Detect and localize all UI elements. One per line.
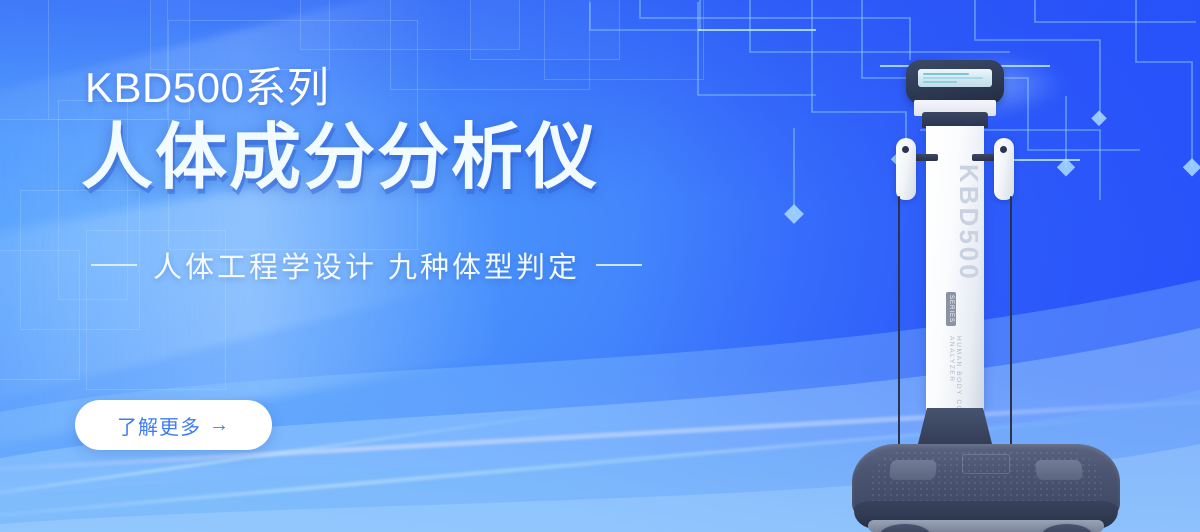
device-cable-left — [898, 196, 900, 446]
device-cable-right — [1010, 196, 1012, 446]
device-column: KBD500 SERIES HUMAN BODY COMPOSITION ANA… — [926, 126, 984, 410]
dash-left-icon — [91, 264, 137, 266]
product-series-label: KBD500系列 — [85, 66, 725, 111]
page-title: 人体成分分析仪 — [81, 121, 725, 197]
learn-more-button[interactable]: 了解更多 → — [75, 400, 272, 450]
device-handle-right — [994, 138, 1014, 200]
banner-subtitle-row: 人体工程学设计 九种体型判定 — [91, 244, 725, 286]
device-handle-left — [896, 138, 916, 200]
dash-right-icon — [596, 264, 642, 266]
device-base-center-panel — [962, 454, 1010, 474]
device-display-head — [906, 60, 1004, 104]
learn-more-label: 了解更多 — [117, 411, 201, 440]
device-badge-text: SERIES — [946, 292, 956, 326]
promo-banner: KBD500 SERIES HUMAN BODY COMPOSITION ANA… — [0, 0, 1200, 532]
body-composition-analyzer-image: KBD500 SERIES HUMAN BODY COMPOSITION ANA… — [830, 46, 1140, 526]
device-foot-pad-right — [1035, 460, 1083, 480]
arrow-right-icon: → — [209, 415, 230, 435]
device-screen — [918, 69, 992, 87]
banner-copy: KBD500系列 人体成分分析仪 人体工程学设计 九种体型判定 — [85, 66, 725, 286]
device-brand-text: KBD500 — [926, 160, 984, 286]
banner-subtitle: 人体工程学设计 九种体型判定 — [153, 244, 580, 286]
device-foot-pad-left — [889, 460, 937, 480]
